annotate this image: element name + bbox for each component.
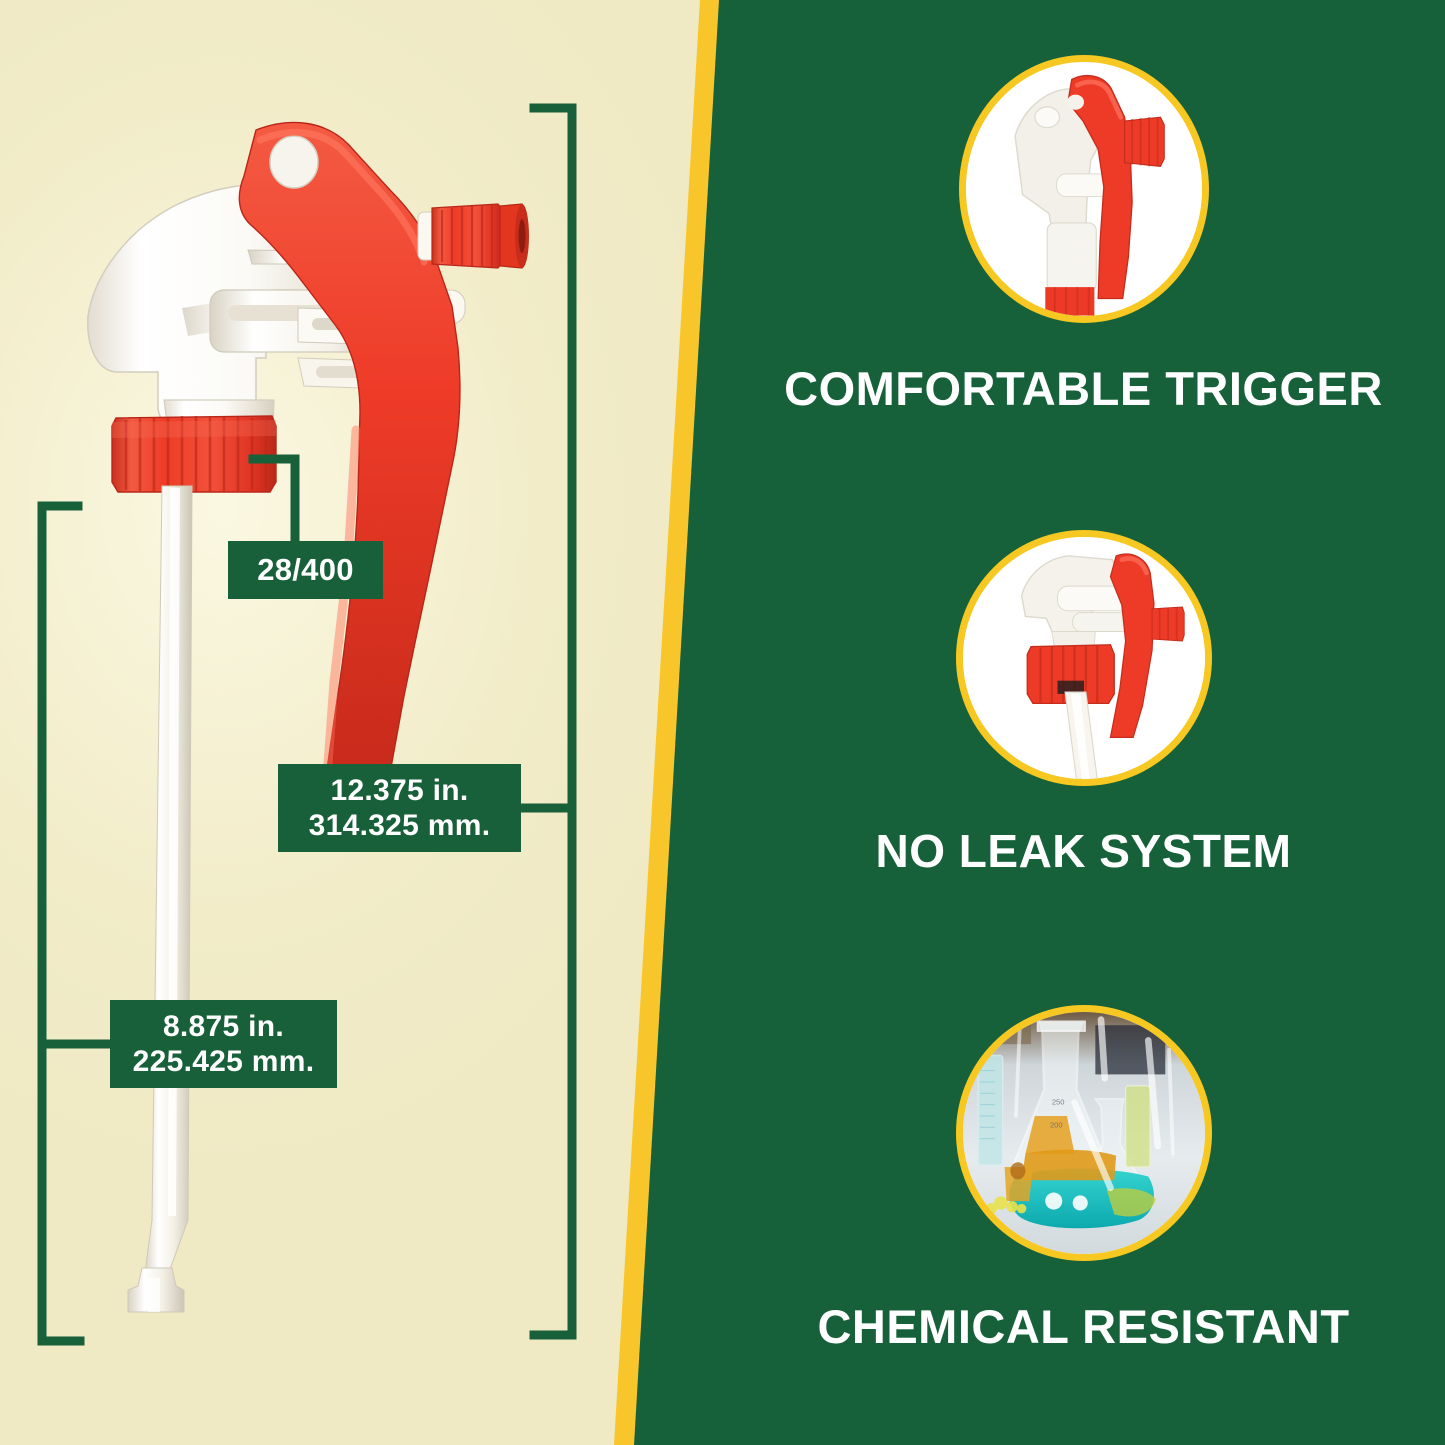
product-infographic: 28/400 12.375 in. 314.325 mm. 8.875 in. … (0, 0, 1445, 1445)
cap-closeup-icon (963, 537, 1205, 779)
svg-text:200: 200 (1049, 1120, 1062, 1129)
svg-text:250: 250 (1051, 1098, 1064, 1107)
callout-dip-tube-length: 8.875 in. 225.425 mm. (110, 1000, 337, 1088)
callout-dip-tube-length-mm: 225.425 mm. (133, 1044, 315, 1079)
feature-1-image-circle (959, 55, 1209, 323)
dip-tube (128, 486, 192, 1312)
feature-2-image-circle (956, 530, 1212, 786)
feature-1-label: COMFORTABLE TRIGGER (784, 361, 1383, 416)
feature-2-label: NO LEAK SYSTEM (876, 824, 1292, 878)
lab-glassware-icon: 250 200 (963, 1012, 1205, 1254)
callout-overall-length-mm: 314.325 mm. (309, 808, 491, 843)
feature-no-leak-system: NO LEAK SYSTEM (722, 530, 1445, 878)
feature-comfortable-trigger: COMFORTABLE TRIGGER (722, 55, 1445, 416)
callout-neck-finish: 28/400 (228, 541, 383, 599)
callout-overall-length-inches: 12.375 in. (330, 773, 468, 808)
trigger-closeup-icon (966, 62, 1202, 316)
callout-neck-finish-text: 28/400 (257, 552, 354, 589)
trigger-sprayer-illustration (60, 100, 560, 1380)
callout-overall-length: 12.375 in. 314.325 mm. (278, 764, 521, 852)
bottle-cap (112, 416, 276, 492)
feature-3-image-circle: 250 200 (956, 1005, 1212, 1261)
spray-nozzle (418, 204, 529, 268)
feature-3-label: CHEMICAL RESISTANT (817, 1299, 1349, 1354)
feature-chemical-resistant: 250 200 (722, 1005, 1445, 1354)
callout-dip-tube-length-inches: 8.875 in. (163, 1009, 284, 1044)
